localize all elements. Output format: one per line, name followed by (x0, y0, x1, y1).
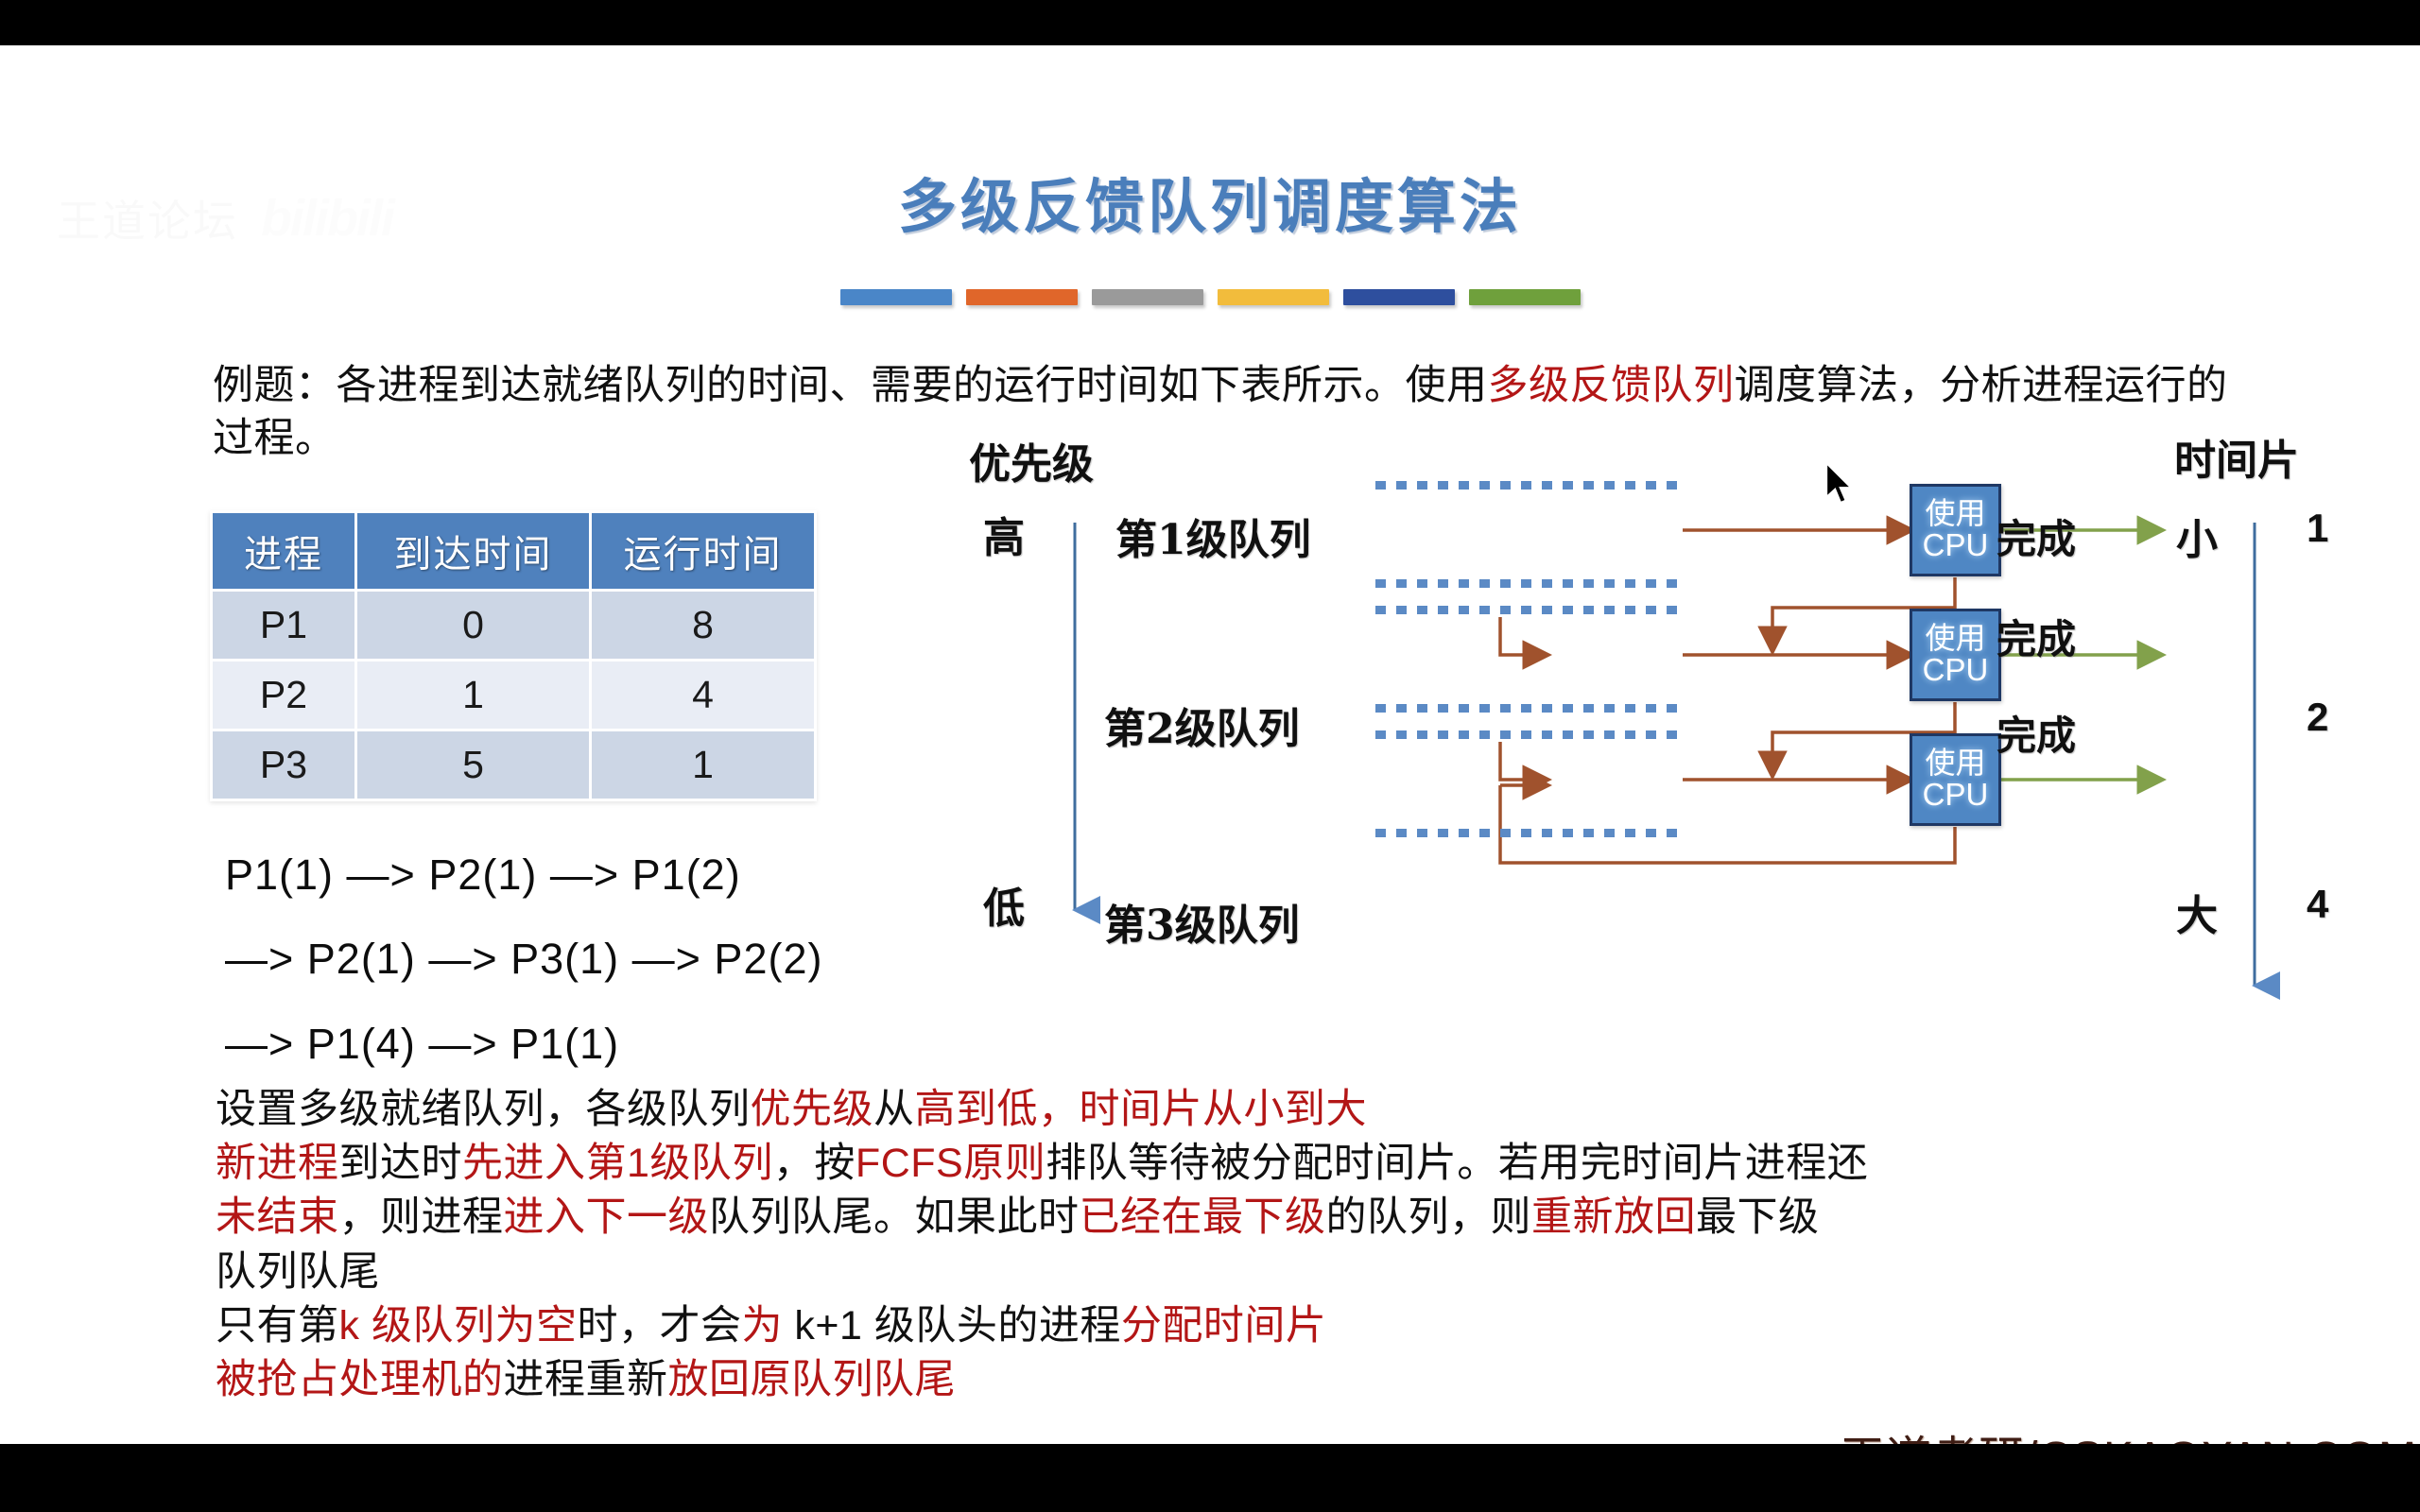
timeslice-value-1: 1 (2307, 506, 2328, 551)
note-line: 只有第k 级队列为空时，才会为 k+1 级队头的进程分配时间片 (216, 1299, 2295, 1353)
timeslice-axis-label: 时间片 (2174, 426, 2299, 487)
priority-low-label: 低 (983, 874, 1025, 935)
note-segment: k 级队列为空 (339, 1303, 578, 1349)
sequence-line: —> P2(1) —> P3(1) —> P2(2) (225, 928, 822, 989)
cell-runtime: 4 (592, 661, 814, 729)
note-segment: 进程重新 (504, 1357, 668, 1402)
note-segment: 未结束 (216, 1194, 339, 1240)
note-segment: 优先级 (751, 1087, 874, 1132)
note-line: 设置多级就绪队列，各级队列优先级从高到低，时间片从小到大 (216, 1083, 2295, 1137)
queue-1-label: 第1级队列 (1115, 506, 1311, 566)
sequence-line: P1(1) —> P2(1) —> P1(2) (225, 844, 822, 905)
table-row: P1 0 8 (213, 592, 814, 659)
cpu-label-cn: 使用 (1925, 498, 1985, 530)
queue3-dash-bottom (1375, 829, 1687, 837)
queue2-dash-top (1375, 606, 1687, 614)
sequence-line: —> P1(4) —> P1(1) (225, 1013, 822, 1074)
note-segment: 队列队尾 (216, 1249, 380, 1295)
note-segment: ，则进程 (339, 1194, 504, 1240)
done-label-level-2: 完成 (1996, 608, 2076, 665)
accent-bar-4 (1218, 289, 1329, 305)
note-segment: 设置多级就绪队列，各级队列 (216, 1087, 751, 1132)
note-segment: ，按 (773, 1141, 856, 1186)
example-highlight: 多级反馈队列 (1488, 363, 1735, 408)
note-segment: 的队列，则 (1326, 1194, 1532, 1240)
cpu-box-level-3: 使用 CPU (1910, 733, 2001, 826)
requeue-loop-lower (1500, 785, 1955, 863)
note-segment: 先进入第1级队列 (462, 1141, 773, 1186)
queue1-dash-top (1375, 481, 1687, 490)
example-text-part1: 例题：各进程到达就绪队列的时间、需要的运行时间如下表所示。使用 (213, 363, 1488, 408)
queue2-entry-stub (1500, 617, 1546, 655)
note-segment: 为 (741, 1303, 783, 1349)
accent-bar-5 (1343, 289, 1455, 305)
column-header-run-time: 运行时间 (592, 513, 814, 589)
note-segment: FCFS原则 (856, 1141, 1046, 1186)
table-row: P2 1 4 (213, 661, 814, 729)
cell-arrival: 5 (357, 731, 589, 799)
note-segment: 已经在最下级 (1080, 1194, 1326, 1240)
table-row: P3 5 1 (213, 731, 814, 799)
explanation-notes: 设置多级就绪队列，各级队列优先级从高到低，时间片从小到大新进程到达时先进入第1级… (216, 1083, 2295, 1407)
queue2-dash-bottom (1375, 704, 1687, 713)
timeslice-value-3: 4 (2307, 882, 2328, 927)
note-segment: 最下级 (1696, 1194, 1820, 1240)
cpu-label-en: CPU (1923, 779, 1989, 812)
cpu-label-en: CPU (1923, 529, 1989, 562)
note-segment: 放回原队列队尾 (668, 1357, 957, 1402)
note-segment: 时，才会 (577, 1303, 741, 1349)
note-line: 新进程到达时先进入第1级队列，按FCFS原则排队等待被分配时间片。若用完时间片进… (216, 1137, 2295, 1191)
slide-canvas: 王道论坛 bilibili 多级反馈队列调度算法 例题：各进程到达就绪队列的时间… (0, 45, 2420, 1444)
note-segment: 被抢占处理机的 (216, 1357, 504, 1402)
accent-bar-1 (840, 289, 952, 305)
cell-runtime: 1 (592, 731, 814, 799)
cell-runtime: 8 (592, 592, 814, 659)
execution-sequence: P1(1) —> P2(1) —> P1(2) —> P2(1) —> P3(1… (225, 844, 822, 1097)
cell-process: P1 (213, 592, 354, 659)
queue-2-label: 第2级队列 (1104, 695, 1300, 755)
accent-bar-3 (1092, 289, 1203, 305)
priority-axis-label: 优先级 (969, 430, 1094, 490)
priority-high-label: 高 (983, 504, 1025, 564)
done-label-level-3: 完成 (1996, 704, 2076, 762)
cpu-box-level-1: 使用 CPU (1910, 484, 2001, 576)
accent-bar-2 (966, 289, 1078, 305)
column-header-arrival-time: 到达时间 (357, 513, 589, 589)
multilevel-feedback-queue-diagram: 使用 CPU 使用 CPU 使用 CPU 优先级 高 低 第1级队列 第2级队列… (964, 438, 2401, 1023)
note-segment: 进入下一级 (504, 1194, 710, 1240)
note-segment: 新进程 (216, 1141, 339, 1186)
note-segment: 重新放回 (1531, 1194, 1696, 1240)
note-segment: 到达时 (339, 1141, 463, 1186)
page-title: 多级反馈队列调度算法 (0, 159, 2420, 244)
column-header-process: 进程 (213, 513, 354, 589)
note-segment: 队列队尾。如果此时 (709, 1194, 1080, 1240)
timeslice-value-2: 2 (2307, 695, 2328, 740)
cpu-label-en: CPU (1923, 654, 1989, 687)
note-segment: k+1 (783, 1303, 874, 1349)
cell-arrival: 1 (357, 661, 589, 729)
title-accent-bars (0, 289, 2420, 305)
note-line: 被抢占处理机的进程重新放回原队列队尾 (216, 1353, 2295, 1407)
table-header-row: 进程 到达时间 运行时间 (213, 513, 814, 589)
cell-process: P2 (213, 661, 354, 729)
cpu-label-cn: 使用 (1925, 747, 1985, 780)
cpu-label-cn: 使用 (1925, 623, 1985, 655)
page-title-text: 多级反馈队列调度算法 (898, 172, 1522, 241)
cell-arrival: 0 (357, 592, 589, 659)
note-line: 队列队尾 (216, 1246, 2295, 1299)
note-segment: 从 (873, 1087, 915, 1132)
cpu-box-level-2: 使用 CPU (1910, 609, 2001, 701)
queue3-entry-stub (1500, 742, 1546, 780)
note-line: 未结束，则进程进入下一级队列队尾。如果此时已经在最下级的队列，则重新放回最下级 (216, 1191, 2295, 1245)
note-segment: 分配时间片 (1121, 1303, 1327, 1349)
video-player-frame: 王道论坛 bilibili 多级反馈队列调度算法 例题：各进程到达就绪队列的时间… (0, 0, 2420, 1512)
accent-bar-6 (1469, 289, 1581, 305)
process-table: 进程 到达时间 运行时间 P1 0 8 P2 1 4 P3 5 (210, 510, 817, 801)
cell-process: P3 (213, 731, 354, 799)
queue-3-label: 第3级队列 (1104, 891, 1300, 952)
queue1-dash-bottom (1375, 579, 1687, 588)
note-segment: 高到低，时间片从小到大 (915, 1087, 1368, 1132)
footer-branding: 王道考研/CSKAOYAN.COM (1840, 1420, 2417, 1444)
note-segment: 排队等待被分配时间片。若用完时间片进程还 (1046, 1141, 1868, 1186)
timeslice-small-label: 小 (2176, 506, 2218, 566)
note-segment: 级队头的进程 (874, 1303, 1121, 1349)
done-label-level-1: 完成 (1996, 507, 2076, 565)
queue3-dash-top (1375, 730, 1687, 739)
note-segment: 只有第 (216, 1303, 339, 1349)
timeslice-big-label: 大 (2176, 882, 2218, 942)
